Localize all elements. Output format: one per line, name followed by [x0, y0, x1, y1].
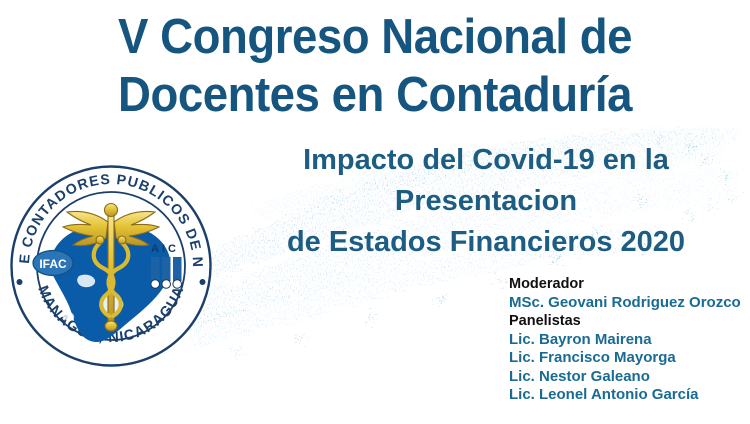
poster-canvas: V Congreso Nacional de Docentes en Conta…: [0, 0, 750, 424]
poster-title: V Congreso Nacional de Docentes en Conta…: [0, 8, 750, 124]
subtitle-line-2: Presentacion: [222, 181, 750, 222]
logo-badge-aic-label: AIC: [151, 243, 179, 255]
logo-badge-aic: AIC: [151, 243, 182, 288]
credit-name-panelist-2: Lic. Francisco Mayorga: [509, 349, 741, 368]
credit-name-panelist-3: Lic. Nestor Galeano: [509, 368, 741, 387]
credit-name-moderador: MSc. Geovani Rodriguez Orozco: [509, 294, 741, 313]
credit-name-panelist-4: Lic. Leonel Antonio García: [509, 386, 741, 405]
credits-list: Moderador MSc. Geovani Rodriguez Orozco …: [509, 275, 741, 405]
poster-subtitle: Impacto del Covid-19 en la Presentacion …: [222, 140, 750, 263]
credit-role-moderador: Moderador: [509, 275, 741, 294]
logo-badge-ifac: IFAC: [33, 251, 73, 276]
logo-dot-left: [17, 279, 23, 285]
subtitle-line-3: de Estados Financieros 2020: [222, 222, 750, 263]
logo-dot-right: [200, 279, 206, 285]
title-line-1: V Congreso Nacional de: [26, 8, 724, 66]
organization-logo: COLEGIO DE CONTADORES PUBLICOS DE NICARA…: [5, 160, 217, 372]
credit-role-panelistas: Panelistas: [509, 312, 741, 331]
subtitle-line-1: Impacto del Covid-19 en la: [222, 140, 750, 181]
logo-badge-ifac-label: IFAC: [39, 257, 67, 271]
title-line-2: Docentes en Contaduría: [26, 66, 724, 124]
credit-name-panelist-1: Lic. Bayron Mairena: [509, 331, 741, 350]
